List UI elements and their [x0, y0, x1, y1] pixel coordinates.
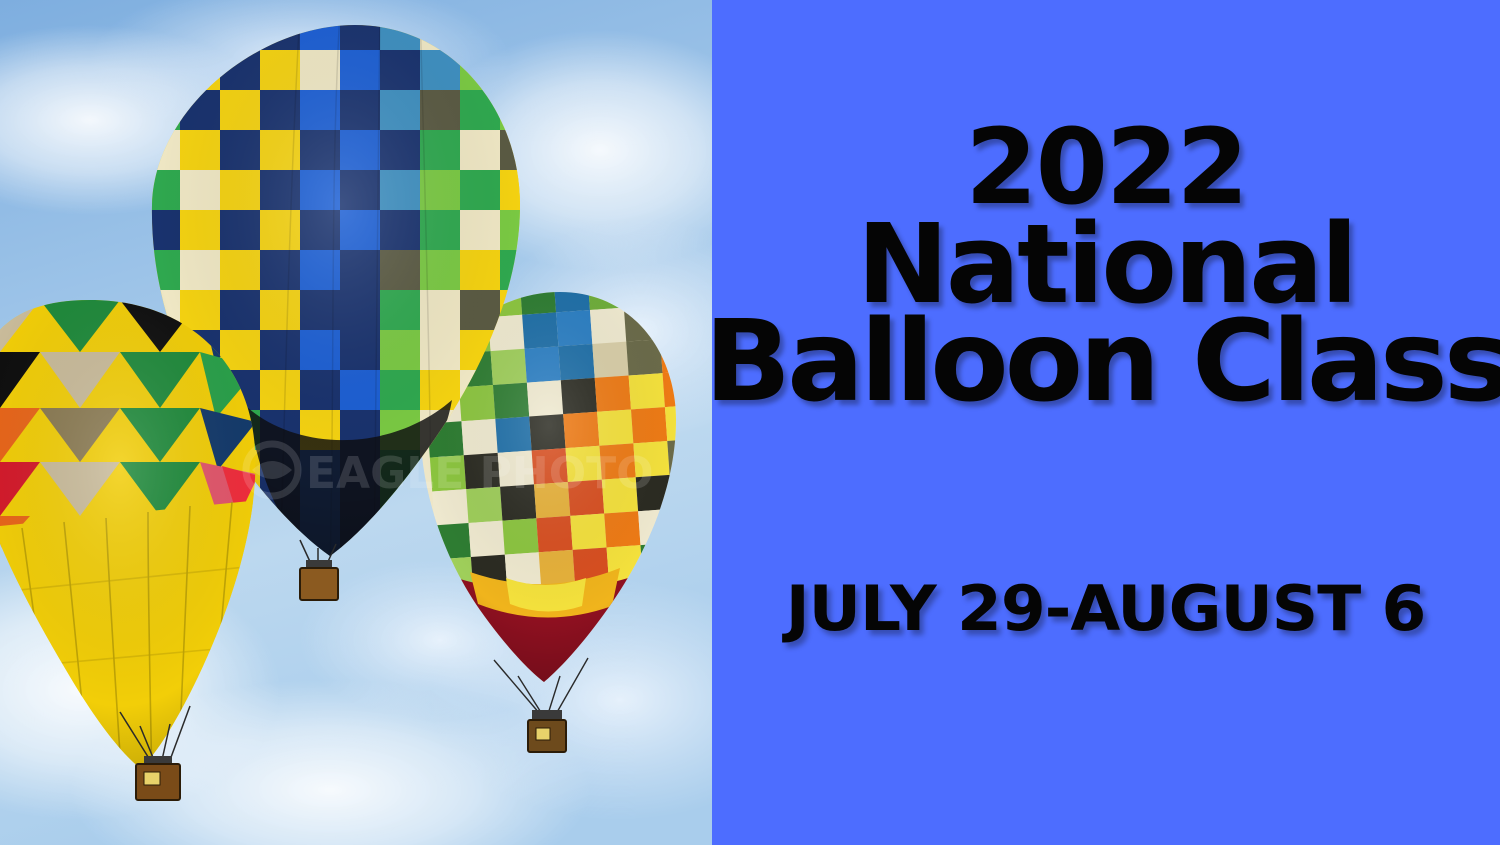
photo-watermark: EAGLE PHOTO [246, 444, 654, 499]
event-title: 2022 National Balloon Classic [712, 118, 1500, 417]
watermark-text: EAGLE PHOTO [306, 448, 654, 499]
title-line-3: Balloon Classic [712, 309, 1500, 417]
poster: EAGLE PHOTO 2022 National Balloon Classi… [0, 0, 1500, 845]
balloon-photo-art: EAGLE PHOTO [0, 0, 712, 845]
date-range: JULY 29-AUGUST 6 [786, 578, 1426, 640]
balloon-photo: EAGLE PHOTO [0, 0, 712, 845]
event-dates: JULY 29-AUGUST 6 [712, 578, 1500, 640]
title-panel: 2022 National Balloon Classic JULY 29-AU… [712, 0, 1500, 845]
